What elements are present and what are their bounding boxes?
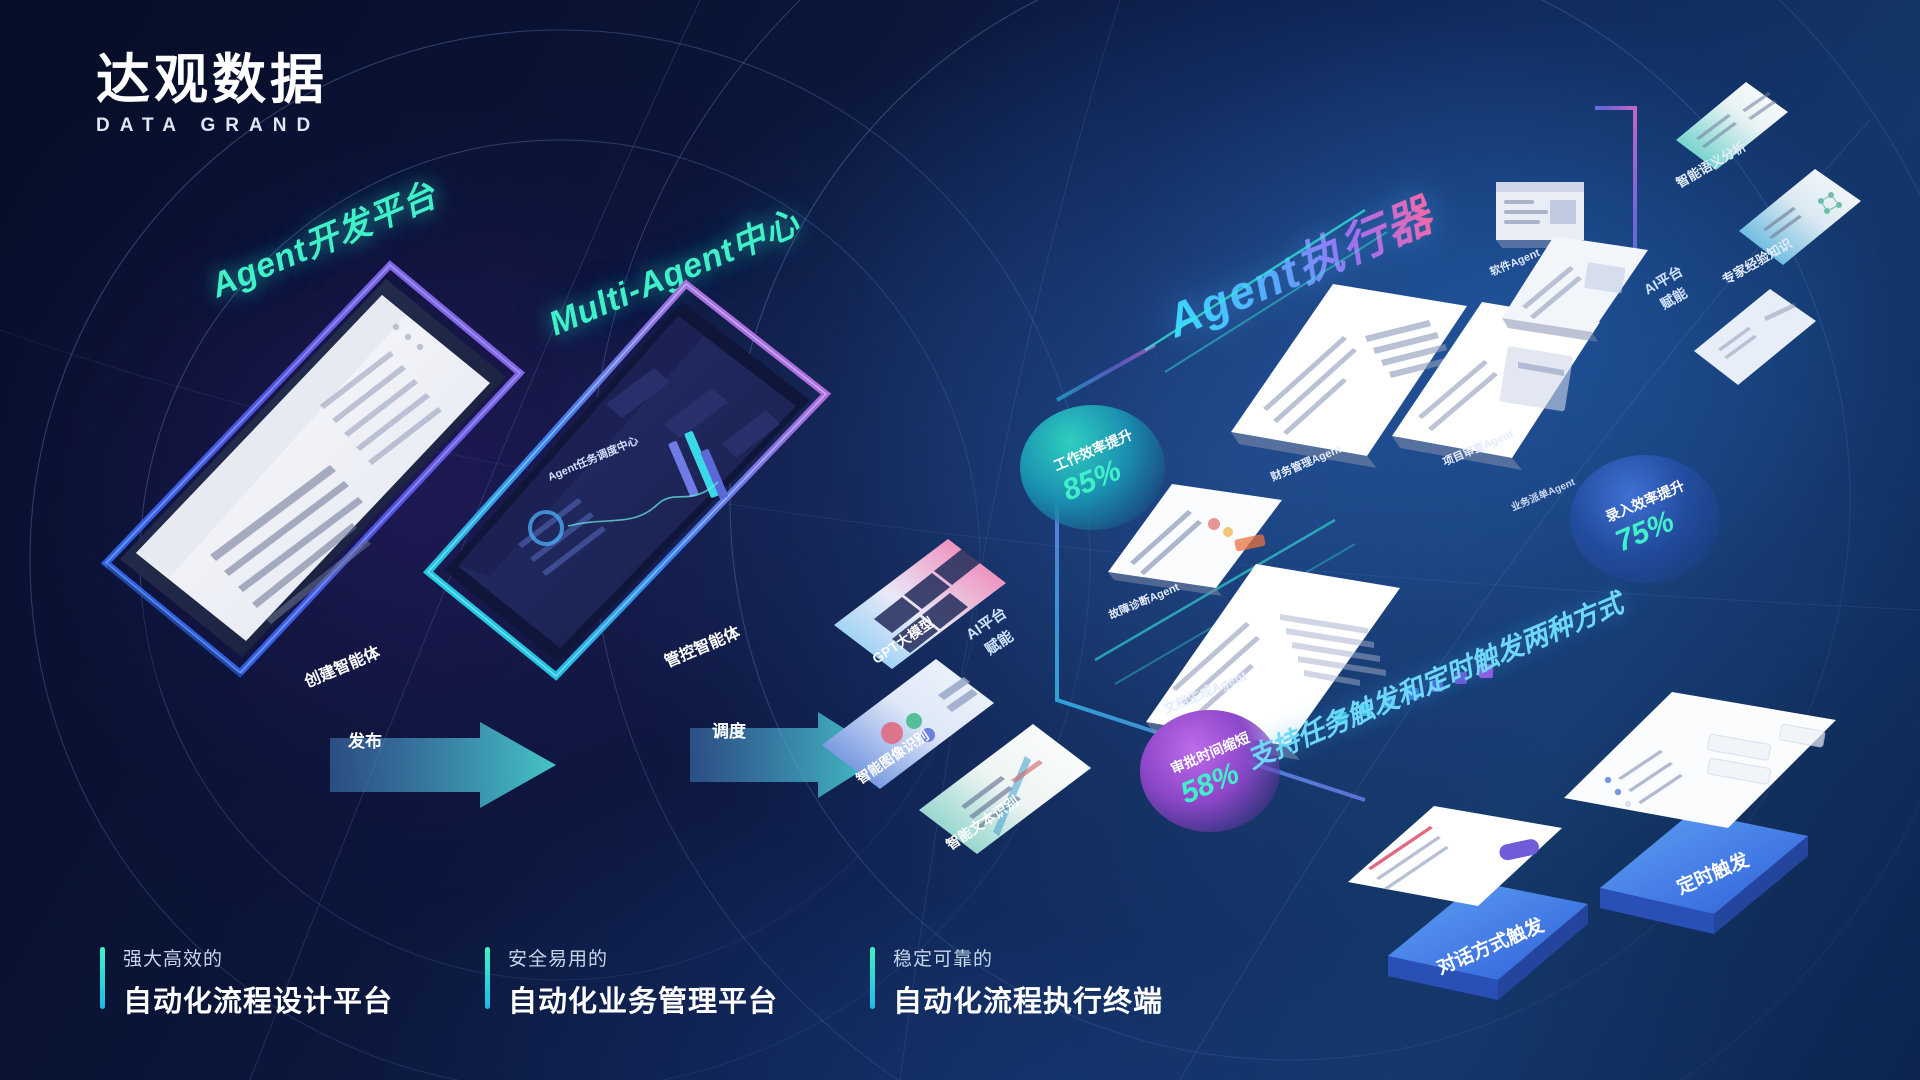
brand-name-cn: 达观数据 — [96, 52, 328, 109]
caption-sub-design: 强大高效的 — [123, 944, 393, 971]
caption-item-design: 强大高效的 自动化流程设计平台 — [100, 944, 393, 1020]
stat-badge-efficiency: 工作效率提升 85% — [1020, 405, 1165, 530]
caption-accent-bar — [870, 947, 875, 1009]
multi-agent-monitor — [418, 276, 838, 696]
caption-item-management: 安全易用的 自动化业务管理平台 — [485, 944, 778, 1020]
flow-label-publish: 发布 — [348, 727, 382, 752]
knowledge-card-semantic — [1672, 78, 1792, 178]
trigger-schedule-panel — [1552, 688, 1842, 853]
caption-item-execution: 稳定可靠的 自动化流程执行终端 — [870, 944, 1163, 1020]
brand-name-en: DATA GRAND — [96, 115, 328, 137]
caption-accent-bar — [485, 947, 490, 1009]
caption-main-design: 自动化流程设计平台 — [123, 978, 393, 1020]
caption-main-execution: 自动化流程执行终端 — [893, 978, 1163, 1020]
caption-sub-management: 安全易用的 — [508, 944, 778, 971]
poster-canvas: 达观数据 DATA GRAND Agent开发平台 — [0, 0, 1920, 1080]
caption-sub-execution: 稳定可靠的 — [893, 944, 1163, 971]
stat-badge-entry: 录入效率提升 75% — [1570, 455, 1720, 583]
caption-accent-bar — [100, 947, 105, 1009]
brand-logo: 达观数据 DATA GRAND — [96, 52, 328, 137]
knowledge-card-extra — [1690, 285, 1820, 395]
flow-label-schedule: 调度 — [712, 717, 746, 742]
caption-main-management: 自动化业务管理平台 — [508, 978, 778, 1020]
agent-screen-dispatch — [1492, 232, 1652, 372]
bottom-captions: 强大高效的 自动化流程设计平台 安全易用的 自动化业务管理平台 稳定可靠的 自动… — [100, 944, 1163, 1020]
